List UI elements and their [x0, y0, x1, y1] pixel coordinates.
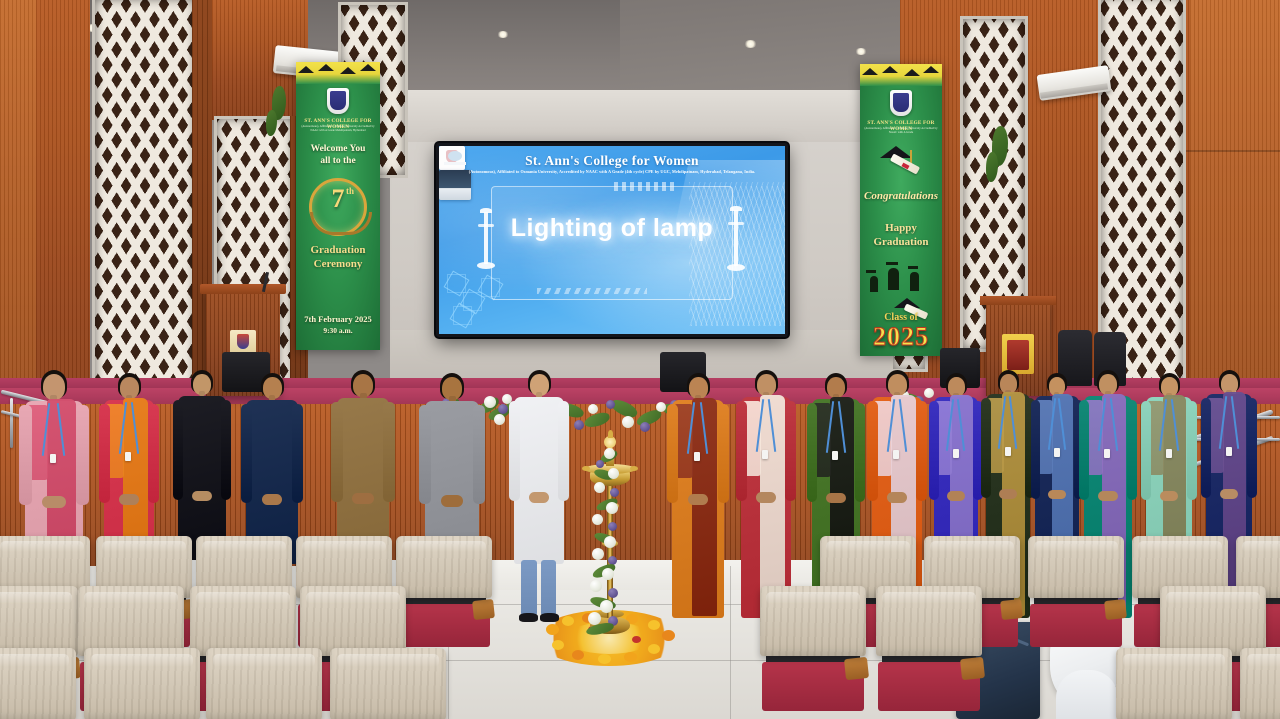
arm-right [221, 400, 231, 500]
auditorium-seat[interactable] [1240, 648, 1280, 719]
lamp-flower-garland [578, 448, 642, 634]
arm-right [855, 403, 865, 502]
screen-main-text: Lighting of lamp [439, 214, 785, 243]
id-badge [953, 449, 959, 458]
rangoli-petal [552, 640, 564, 650]
seat-cloth-cover [1160, 586, 1266, 656]
arm-left [419, 405, 431, 504]
graduate-silhouette-icon [910, 272, 919, 291]
id-badge [762, 450, 768, 459]
auditorium-seat[interactable] [84, 648, 200, 719]
auditorium-seat[interactable] [206, 648, 322, 719]
graduate-cap-toss [866, 270, 876, 273]
arm-right [76, 405, 88, 505]
ordinal-suffix: th [346, 186, 354, 196]
graduation-cap-icon [298, 66, 314, 73]
arm-right [718, 404, 729, 503]
framed-portrait [1007, 340, 1029, 370]
screen-inner-frame [491, 186, 733, 300]
seat-cloth-cover [760, 586, 866, 656]
seat-cloth-cover [0, 586, 78, 656]
podium-emblem-crest-icon [237, 334, 249, 349]
id-badge [1005, 447, 1011, 456]
arm-left [867, 401, 878, 501]
clasped-hands [42, 496, 65, 508]
clasped-hands [192, 491, 211, 501]
auditorium-seat[interactable] [0, 648, 76, 719]
clasped-hands [529, 492, 549, 503]
railing-post-left [10, 398, 13, 448]
graduate-silhouette-icon [870, 276, 878, 292]
ceiling-spotlight [744, 40, 757, 48]
banner-right-line1: Happy [860, 222, 942, 234]
graduate-cap-toss [908, 266, 918, 269]
seat-cloth-cover [190, 586, 296, 656]
shoe-left [519, 613, 538, 622]
arm-left [1141, 401, 1151, 500]
arm-left [736, 401, 747, 501]
clasped-hands [947, 491, 965, 501]
arm-left [1079, 400, 1089, 500]
seat-cloth-cover [206, 648, 322, 719]
college-crest-icon [890, 90, 912, 116]
banner-right-college-sub: (Autonomous), Affiliated to Osmania Univ… [863, 127, 939, 134]
graduate-silhouette-icon [888, 268, 899, 290]
clasped-hands [1048, 490, 1065, 499]
arm-right [292, 404, 303, 503]
shoe-right [540, 613, 559, 622]
graduation-cap-icon [882, 66, 898, 73]
graduate-cap-toss [886, 262, 898, 265]
clasped-hands [887, 492, 907, 503]
banner-left-college-sub: (Autonomous), Affiliated to Osmania Univ… [299, 125, 377, 132]
clasped-hands [999, 489, 1017, 499]
clasped-hands [826, 493, 845, 503]
seat-cloth-cover [330, 648, 446, 719]
arm-right [1127, 400, 1137, 500]
seat-cloth-cover [1240, 648, 1280, 719]
floor-tile-joint [730, 566, 731, 719]
arm-left [173, 400, 183, 500]
auditorium-seat[interactable] [876, 586, 982, 708]
seventh-wreath [310, 212, 372, 235]
id-badge [125, 452, 131, 461]
arm-right [785, 401, 796, 501]
id-badge [694, 452, 700, 461]
rangoli-petal [546, 624, 559, 635]
seat-cloth-cover [84, 648, 200, 719]
banner-left-date: 7th February 2025 [296, 314, 380, 324]
arm-left [1031, 400, 1040, 499]
graduation-cap-icon [340, 67, 356, 74]
id-badge [50, 454, 56, 463]
banner-right-year: 2025 [860, 322, 942, 352]
auditorium-seat[interactable] [1028, 536, 1124, 650]
clasped-hands [441, 495, 463, 507]
rangoli-petal [624, 652, 637, 662]
arm-right [148, 404, 159, 503]
screen-header-subtitle: (Autonomous), Affiliated to Osmania Univ… [465, 169, 759, 174]
arm-left [241, 404, 252, 503]
arm-left [981, 398, 991, 498]
auditorium-photo: St. Ann's College for Women (Autonomous)… [0, 0, 1280, 719]
person-9 [735, 372, 797, 622]
banner-left-welcome: ST. ANN'S COLLEGE FOR WOMEN (Autonomous)… [296, 62, 380, 350]
naac-emblem-logo-icon [439, 170, 471, 200]
rangoli-petal [648, 644, 660, 654]
clasped-hands [1098, 491, 1117, 501]
lattice-screen-left-1 [92, 0, 198, 402]
arm-right [916, 401, 927, 501]
torso [514, 397, 564, 564]
banner-left-line4: Ceremony [296, 258, 380, 270]
podium-top-ledge [200, 284, 286, 294]
id-badge [893, 450, 899, 459]
graduation-cap-icon [318, 64, 334, 71]
screen-frame-dashes [537, 288, 647, 294]
seat-armrest [960, 657, 985, 680]
screen-header-title: St. Ann's College for Women [439, 153, 785, 169]
graduation-cap-icon [923, 66, 939, 73]
graduation-cap-icon [904, 69, 920, 76]
arm-right [558, 401, 569, 501]
ceiling-spotlight [855, 48, 867, 55]
arm-left [99, 404, 110, 503]
clasped-hands [119, 494, 139, 505]
clasped-hands [262, 494, 282, 505]
leg-right [541, 560, 557, 616]
banner-left-line1: Welcome You [296, 144, 380, 154]
rangoli-petal [572, 650, 584, 660]
arm-right [383, 402, 394, 502]
wall-wood-left-b [0, 0, 36, 430]
id-badge [832, 451, 838, 460]
seat-cloth-cover [78, 586, 184, 656]
auditorium-seat[interactable] [330, 648, 446, 719]
seat-cloth-cover [1116, 648, 1232, 719]
id-badge [1104, 449, 1110, 458]
banner-left-line3: Graduation [296, 244, 380, 256]
person-7 [508, 372, 570, 622]
seat-cloth-cover [876, 586, 982, 656]
banner-right-congratulations: ST. ANN'S COLLEGE FOR WOMEN (Autonomous)… [860, 64, 942, 356]
ordinal-number: 7 [296, 184, 380, 214]
banner-cap-row [860, 64, 942, 86]
seat-armrest [472, 599, 495, 620]
clasped-hands [352, 493, 373, 504]
seat-armrest [1104, 599, 1127, 620]
ceiling-spotlight [497, 31, 509, 38]
screen-frame-notch [614, 182, 676, 191]
clasped-hands [756, 492, 776, 503]
arm-left [1201, 398, 1211, 498]
arm-left [807, 403, 817, 502]
clasped-hands [688, 494, 708, 505]
arm-right [1187, 401, 1197, 500]
banner-left-time: 9:30 a.m. [296, 326, 380, 335]
rangoli-petal [598, 654, 611, 664]
banner-right-line2: Graduation [860, 236, 942, 248]
clasped-hands [1220, 489, 1239, 499]
clasped-hands [1160, 491, 1179, 501]
arm-left [19, 405, 31, 505]
banner-left-line2: all to the [296, 156, 380, 166]
leg-left [521, 560, 537, 616]
auditorium-seat[interactable] [760, 586, 866, 708]
arm-left [929, 401, 939, 500]
person-8 [666, 375, 730, 622]
wall-wood-right-b [1190, 0, 1280, 430]
college-crest-icon [327, 88, 349, 114]
hex-decor [450, 303, 476, 329]
led-display-screen: St. Ann's College for Women (Autonomous)… [436, 143, 788, 337]
seat-cloth-cover [1028, 536, 1124, 598]
rangoli-petal [662, 630, 675, 641]
arm-right [1247, 398, 1257, 498]
arm-left [667, 404, 678, 503]
graduation-cap-icon [862, 68, 878, 75]
led-screen-content: St. Ann's College for Women (Autonomous)… [439, 146, 785, 334]
auditorium-seat[interactable] [1116, 648, 1232, 719]
arm-left [509, 401, 520, 501]
banner-cap-row [296, 62, 380, 84]
banner-right-script: Congratulations [860, 190, 942, 202]
wall-panel-upper [390, 90, 900, 142]
arm-right [473, 405, 485, 504]
rangoli-petal [648, 620, 660, 630]
auditorium-seat[interactable] [396, 536, 492, 650]
seat-armrest [844, 657, 869, 680]
id-badge [1054, 448, 1060, 457]
podium-right-ledge [980, 296, 1056, 305]
id-badge [1166, 449, 1172, 458]
graduation-cap-icon [360, 64, 376, 71]
id-badge [1226, 447, 1232, 456]
arm-left [331, 402, 342, 502]
seat-cloth-cover [396, 536, 492, 598]
seat-armrest [1000, 599, 1023, 620]
seat-cloth-cover [0, 648, 76, 719]
seat-cloth-cover [300, 586, 406, 656]
